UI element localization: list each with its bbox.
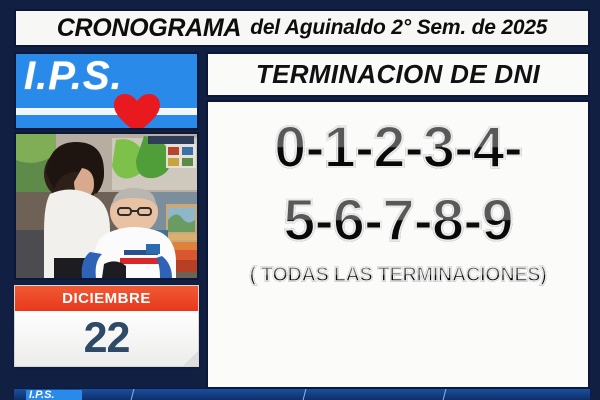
calendar-day-area: 22 — [15, 311, 198, 366]
dni-body: 0-1-2-3-4- 5-6-7-8-9 ( TODAS LAS TERMINA… — [206, 100, 590, 389]
left-column: I.P.S. — [14, 52, 199, 388]
poster-root: CRONOGRAMA del Aguinaldo 2° Sem. de 2025… — [0, 0, 600, 400]
dni-all-terminations-note: ( TODAS LAS TERMINACIONES) — [249, 264, 546, 287]
footer-logo: I.P.S. — [26, 390, 82, 400]
calendar-month-banner: DICIEMBRE — [15, 286, 198, 311]
ips-logo-label: I.P.S. — [24, 56, 123, 96]
logo-stripe — [16, 108, 197, 115]
calendar-page-fold-icon — [183, 351, 198, 366]
photo-illustration — [16, 134, 197, 278]
dni-digits-row-2: 5-6-7-8-9 — [283, 189, 513, 254]
page-subtitle: del Aguinaldo 2° Sem. de 2025 — [250, 16, 547, 40]
dni-header: TERMINACION DE DNI — [206, 52, 590, 97]
footer-bar: I.P.S. — [14, 388, 590, 400]
right-column: TERMINACION DE DNI 0-1-2-3-4- 5-6-7-8-9 … — [206, 52, 590, 388]
footer-separator-3 — [443, 389, 447, 400]
ips-logo: I.P.S. — [14, 52, 199, 130]
calendar-widget: DICIEMBRE 22 — [14, 285, 199, 367]
page-title: CRONOGRAMA — [57, 14, 242, 43]
footer-logo-label: I.P.S. — [29, 389, 54, 400]
dni-digits-row-1: 0-1-2-3-4- — [274, 116, 522, 181]
poster-title-bar: CRONOGRAMA del Aguinaldo 2° Sem. de 2025 — [14, 9, 590, 47]
footer-separator-2 — [303, 389, 307, 400]
footer-separator-1 — [131, 389, 135, 400]
heart-icon — [114, 94, 160, 130]
calendar-day-label: 22 — [84, 317, 130, 360]
dni-header-label: TERMINACION DE DNI — [256, 59, 540, 90]
ips-photo — [14, 132, 199, 280]
calendar-month-label: DICIEMBRE — [62, 290, 151, 307]
